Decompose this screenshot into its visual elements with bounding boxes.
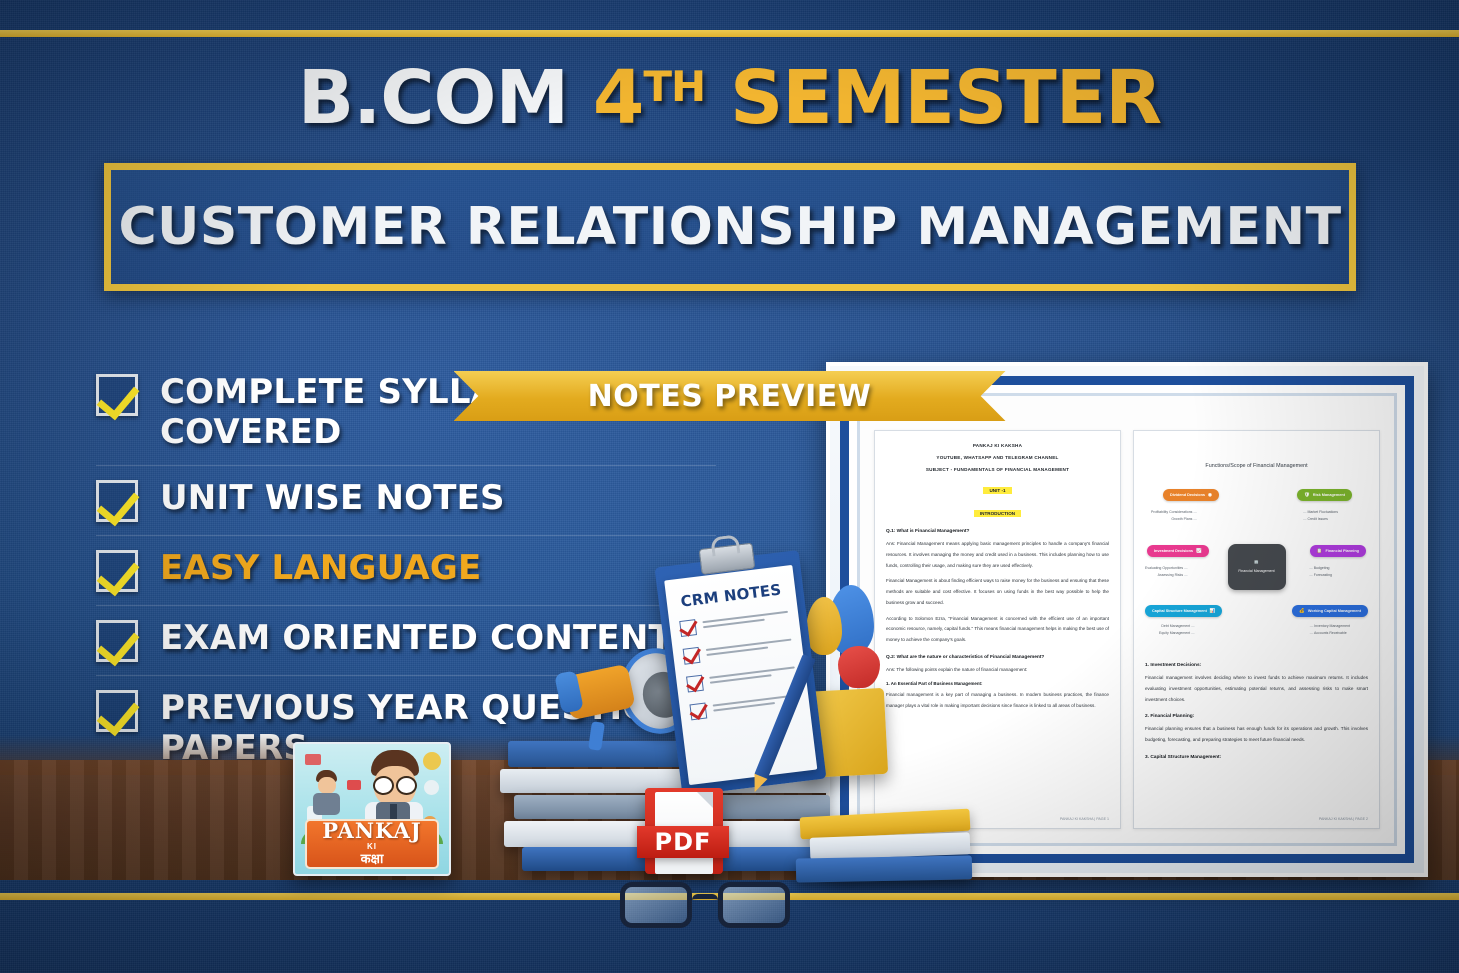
unit-badge: UNIT -1 — [983, 487, 1011, 494]
diagram-title: Functions/Scope of Financial Management — [1145, 463, 1368, 469]
answer-2-heading-1: 1. An Essential Part of Business Managem… — [886, 681, 1109, 686]
chart-icon: 📈 — [1196, 548, 1202, 554]
placeholder-lines — [709, 666, 796, 686]
mini-character — [309, 770, 343, 818]
mini-body — [313, 793, 340, 815]
title-degree: B.COM — [298, 55, 568, 141]
mindmap-node-risk-management: 🛡Risk Management — [1297, 489, 1352, 501]
top-gold-rule — [0, 30, 1459, 37]
glasses-bridge — [692, 894, 718, 900]
mindmap-node-dividend-decisions: Dividend Decisions◉ — [1163, 489, 1219, 501]
section-3-heading: 3. Capital Structure Management: — [1145, 755, 1368, 760]
placeholder-lines — [702, 611, 789, 631]
section-2-heading: 2. Financial Planning: — [1145, 714, 1368, 719]
list-item — [679, 608, 789, 637]
card-icon — [305, 754, 321, 765]
mindmap-subs-working: Inventory Management Accounts Receivable — [1310, 623, 1350, 638]
list-item: EASY LANGUAGE — [96, 535, 716, 605]
notes-page-right: Functions/Scope of Financial Management … — [1133, 430, 1380, 829]
question-2: Q.2: What are the nature or characterist… — [886, 655, 1109, 660]
mindmap-center-node: 🏢 Financial Management — [1228, 544, 1286, 590]
mindmap-subs-dividend: Profitability Considerations Growth Plan… — [1151, 509, 1197, 524]
list-item — [686, 663, 796, 692]
pdf-label-band: PDF — [637, 826, 729, 858]
subject-title: CUSTOMER RELATIONSHIP MANAGEMENT — [118, 197, 1341, 257]
logo-name-banner: PANKAJ KI कक्षा — [305, 819, 439, 869]
logo-name-hindi: कक्षा — [361, 853, 384, 867]
cycle-icon: 💰 — [1299, 608, 1305, 614]
page-header-subject: SUBJECT - FUNDAMENTALS OF FINANCIAL MANA… — [886, 467, 1109, 472]
checkbox-checked-icon — [96, 690, 138, 732]
feature-label: UNIT WISE NOTES — [160, 478, 505, 518]
channel-logo-badge: PANKAJ KI कक्षा — [293, 742, 451, 876]
mindmap-subs-investment: Evaluating Opportunities Assessing Risks — [1145, 565, 1188, 580]
checkbox-checked-icon — [96, 620, 138, 662]
pdf-label: PDF — [655, 828, 712, 856]
page-title: B.COM 4TH SEMESTER — [0, 55, 1459, 141]
placeholder-lines — [706, 639, 793, 659]
list-item: UNIT WISE NOTES — [96, 465, 716, 535]
answer-1-para-1: Ans: Financial Management means applying… — [886, 539, 1109, 571]
subject-title-box: CUSTOMER RELATIONSHIP MANAGEMENT — [104, 163, 1356, 291]
mindmap-node-capital-structure: Capital Structure Management📊 — [1145, 605, 1222, 617]
feature-label: EASY LANGUAGE — [160, 548, 481, 588]
page-header-channel: PANKAJ KI KAKSHA — [886, 443, 1109, 448]
lens-right — [718, 882, 790, 928]
answer-1-para-2: Financial Management is about finding ef… — [886, 576, 1109, 608]
answer-2-intro: Ans: The following points explain the na… — [886, 665, 1109, 676]
pdf-fold-corner — [697, 792, 713, 808]
mindmap-diagram: 🏢 Financial Management Dividend Decision… — [1145, 483, 1368, 651]
mini-face — [318, 777, 336, 794]
eyeglasses-icon — [620, 882, 790, 934]
clipboard-title: CRM NOTES — [676, 580, 786, 611]
mindmap-node-investment-decisions: Investment Decisions📈 — [1147, 545, 1209, 557]
character-glasses-icon — [373, 776, 417, 791]
title-semester-ordinal: TH — [643, 62, 705, 111]
notes-preview-ribbon: NOTES PREVIEW — [454, 371, 1006, 421]
answer-1-para-3: According to Solomon Ezra, "Financial Ma… — [886, 614, 1109, 646]
lens-left — [620, 882, 692, 928]
logo-name: PANKAJ — [322, 820, 421, 841]
section-2-body: Financial planning ensures that a busine… — [1145, 724, 1368, 746]
page-footer: PANKAJ KI KAKSHA | PAGE 1 — [1060, 817, 1109, 821]
section-1-body: Financial management involves deciding w… — [1145, 673, 1368, 705]
mindmap-subs-capital: Debt Management Equity Management — [1159, 623, 1195, 638]
pdf-file-icon: PDF — [635, 788, 731, 880]
checkmark-icon — [679, 619, 697, 637]
red-pin-prop — [838, 646, 880, 688]
title-semester-word: SEMESTER — [730, 55, 1161, 141]
question-1: Q.1: What is Financial Management? — [886, 529, 1109, 534]
promo-poster: B.COM 4TH SEMESTER CUSTOMER RELATIONSHIP… — [0, 0, 1459, 973]
list-item — [683, 636, 793, 665]
bank-icon: 🏢 — [1254, 560, 1258, 565]
checkmark-icon — [689, 703, 707, 721]
clipboard-icon: 📋 — [1317, 548, 1323, 554]
checkbox-checked-icon — [96, 374, 138, 416]
structure-icon: 📊 — [1210, 608, 1216, 614]
mindmap-node-working-capital: 💰Working Capital Management — [1292, 605, 1368, 617]
section-1-heading: 1. Investment Decisions: — [1145, 663, 1368, 668]
checkbox-checked-icon — [96, 480, 138, 522]
answer-2-para-1: Financial management is a key part of ma… — [886, 690, 1109, 712]
checkmark-icon — [686, 675, 704, 693]
checkmark-icon — [683, 647, 701, 665]
ribbon-label: NOTES PREVIEW — [588, 379, 872, 414]
page-footer: PANKAJ KI KAKSHA | PAGE 2 — [1319, 817, 1368, 821]
mindmap-subs-planning: Budgeting Forecasting — [1309, 565, 1332, 580]
book — [796, 855, 972, 882]
mindmap-node-financial-planning: 📋Financial Planning — [1310, 545, 1366, 557]
topic-badge: INTRODUCTION — [974, 510, 1021, 517]
dividend-icon: ◉ — [1208, 492, 1212, 498]
shield-icon: 🛡 — [1304, 492, 1310, 498]
title-semester-number: 4 — [593, 55, 644, 141]
checkbox-checked-icon — [96, 550, 138, 592]
mindmap-subs-risk: Market Fluctuations Credit Issues — [1303, 509, 1338, 524]
page-header-socials: YOUTUBE, WHATSAPP AND TELEGRAM CHANNEL — [886, 455, 1109, 460]
